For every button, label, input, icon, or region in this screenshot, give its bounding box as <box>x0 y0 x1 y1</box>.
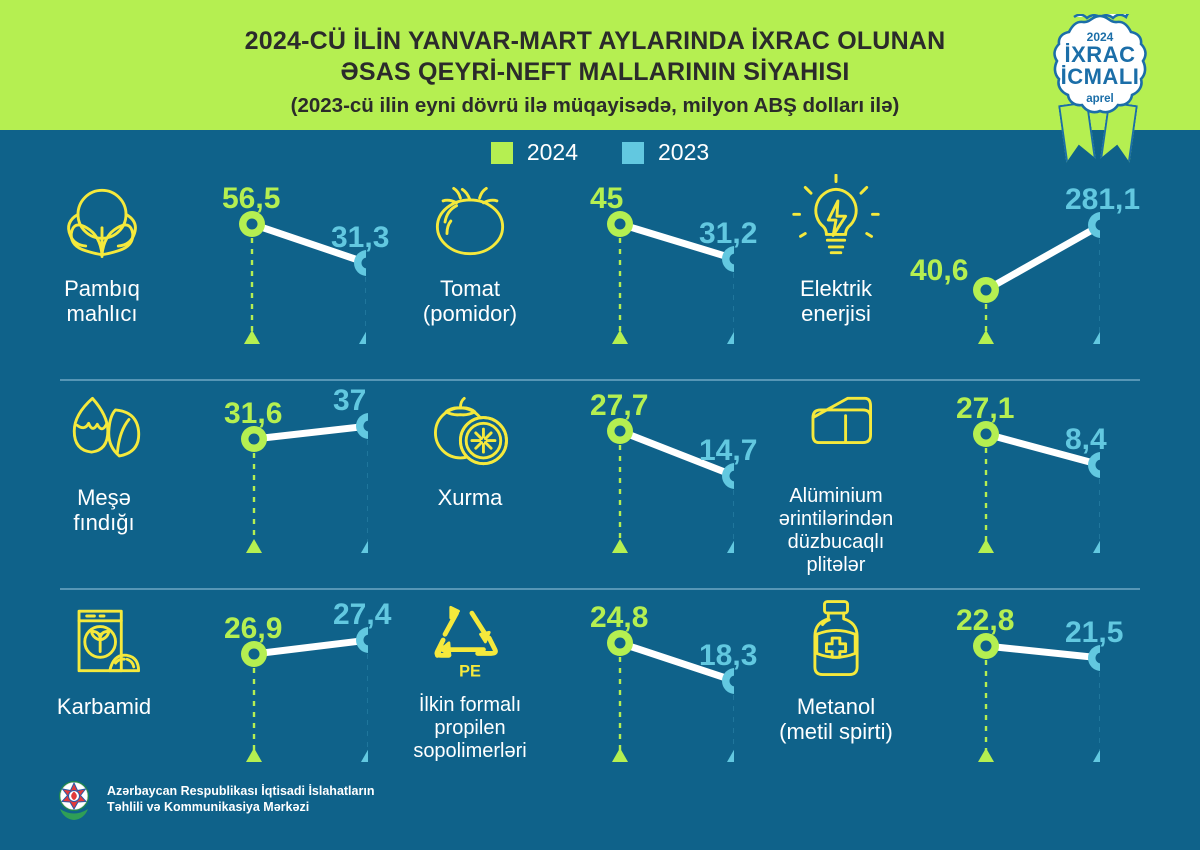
svg-text:PE: PE <box>459 662 481 680</box>
badge-text-block: 2024 İXRAC İCMALI aprel <box>1046 14 1154 122</box>
value-label-2024: 40,6 <box>910 254 968 288</box>
point-2024-inner <box>981 641 992 652</box>
marker-triangle-2023 <box>727 330 734 344</box>
marker-triangle-2023 <box>361 539 368 553</box>
footer: Azərbaycan Respublikası İqtisadi İslahat… <box>52 776 374 822</box>
marker-triangle-2024 <box>612 539 628 553</box>
hazelnut-icon <box>56 383 152 479</box>
value-label-2023: 281,1 <box>1065 183 1140 217</box>
product-cell-metanol: Metanol(metil spirti) 22,8 21,5 <box>734 588 1100 797</box>
marker-triangle-2023 <box>1093 748 1100 762</box>
legend-swatch-2024 <box>491 142 513 164</box>
medicine-bottle-icon <box>788 592 884 688</box>
legend-label-2023: 2023 <box>658 139 709 166</box>
marker-triangle-2023 <box>359 330 366 344</box>
footer-line2: Təhlili və Kommunikasiya Mərkəzi <box>107 799 374 815</box>
cotton-icon <box>54 174 150 270</box>
product-cell-propilen: PE İlkin formalıpropilensopolimerləri 24… <box>368 588 734 797</box>
items-row: Meşəfındığı 31,6 37 <box>0 379 1200 588</box>
items-row: Pambıqmahlıcı 56,5 31,3 <box>0 170 1200 379</box>
value-label-2024: 27,1 <box>956 392 1014 426</box>
value-label-2023: 21,5 <box>1065 616 1123 650</box>
value-label-2023: 8,4 <box>1065 423 1107 457</box>
marker-triangle-2023 <box>361 748 368 762</box>
connector-svg <box>518 170 734 370</box>
product-plot: 24,8 18,3 <box>518 588 734 788</box>
fertilizer-bag-icon <box>56 592 152 688</box>
marker-triangle-2023 <box>727 539 734 553</box>
point-2024-inner <box>615 219 626 230</box>
header-banner: 2024-CÜ İLİN YANVAR-MART AYLARINDA İXRAC… <box>0 0 1200 130</box>
marker-triangle-2024 <box>978 330 994 344</box>
badge-line1: İXRAC <box>1065 44 1136 66</box>
product-cell-aluminium-plitelr: Alüminiumərintilərindəndüzbucaqlıplitələ… <box>734 379 1100 588</box>
legend-swatch-2023 <box>622 142 644 164</box>
product-plot: 31,6 37 <box>152 379 368 579</box>
product-cell-mese-findigi: Meşəfındığı 31,6 37 <box>2 379 368 588</box>
value-label-2024: 31,6 <box>224 397 282 431</box>
point-2024-inner <box>981 285 992 296</box>
product-plot: 40,6 281,1 <box>884 170 1100 370</box>
legend: 2024 2023 <box>0 139 1200 166</box>
aluminium-slab-icon <box>788 383 884 479</box>
page-title-line2: ƏSAS QEYRİ-NEFT MALLARININ SİYAHISI <box>130 57 1060 88</box>
value-label-2024: 22,8 <box>956 604 1014 638</box>
legend-label-2024: 2024 <box>527 139 578 166</box>
marker-triangle-2023 <box>1093 539 1100 553</box>
product-cell-tomat: Tomat(pomidor) 45 31,2 <box>368 170 734 379</box>
lightbulb-icon <box>788 174 884 270</box>
items-grid: Pambıqmahlıcı 56,5 31,3 <box>0 170 1200 797</box>
product-cell-elektrik-enerjisi: Elektrikenerjisi 40,6 281,1 <box>734 170 1100 379</box>
marker-triangle-2024 <box>978 748 994 762</box>
point-2024-inner <box>247 219 258 230</box>
product-cell-pambiq-mahlici: Pambıqmahlıcı 56,5 31,3 <box>0 170 366 379</box>
value-label-2024: 45 <box>590 182 623 216</box>
product-plot: 45 31,2 <box>518 170 734 370</box>
point-2024-inner <box>615 426 626 437</box>
value-label-2024: 56,5 <box>222 182 280 216</box>
marker-triangle-2024 <box>612 748 628 762</box>
product-plot: 26,9 27,4 <box>152 588 368 788</box>
footer-text-block: Azərbaycan Respublikası İqtisadi İslahat… <box>107 783 374 815</box>
azerbaijan-emblem-icon <box>52 776 96 822</box>
product-plot: 56,5 31,3 <box>150 170 366 370</box>
product-cell-karbamid: Karbamid 26,9 27,4 <box>2 588 368 797</box>
ixrac-icmali-badge: 2024 İXRAC İCMALI aprel <box>1032 14 1168 159</box>
marker-triangle-2024 <box>246 539 262 553</box>
point-2024-inner <box>249 434 260 445</box>
legend-item-2024: 2024 <box>491 139 578 166</box>
point-2024-inner <box>249 649 260 660</box>
tomato-icon <box>422 174 518 270</box>
items-row: Karbamid 26,9 27,4 <box>0 588 1200 797</box>
badge-month: aprel <box>1086 91 1114 107</box>
marker-triangle-2024 <box>612 330 628 344</box>
persimmon-icon <box>422 383 518 479</box>
point-2024-inner <box>981 429 992 440</box>
marker-triangle-2024 <box>244 330 260 344</box>
point-2024-inner <box>615 638 626 649</box>
value-label-2023: 37 <box>333 384 366 418</box>
value-label-2024: 24,8 <box>590 601 648 635</box>
page-title-line1: 2024-CÜ İLİN YANVAR-MART AYLARINDA İXRAC… <box>130 26 1060 57</box>
marker-triangle-2024 <box>978 539 994 553</box>
pe-recycle-icon: PE <box>422 592 518 688</box>
value-label-2024: 27,7 <box>590 389 648 423</box>
product-plot: 27,7 14,7 <box>518 379 734 579</box>
marker-triangle-2024 <box>246 748 262 762</box>
value-label-2024: 26,9 <box>224 612 282 646</box>
footer-line1: Azərbaycan Respublikası İqtisadi İslahat… <box>107 783 374 799</box>
marker-triangle-2023 <box>1093 330 1100 344</box>
infographic-page: 2024-CÜ İLİN YANVAR-MART AYLARINDA İXRAC… <box>0 0 1200 850</box>
title-block: 2024-CÜ İLİN YANVAR-MART AYLARINDA İXRAC… <box>0 26 1060 121</box>
product-plot: 27,1 8,4 <box>884 379 1100 579</box>
page-subtitle: (2023-cü ilin eyni dövrü ilə müqayisədə,… <box>130 91 1060 121</box>
connector-line <box>986 225 1100 290</box>
marker-triangle-2023 <box>727 748 734 762</box>
badge-line2: İCMALI <box>1061 66 1140 88</box>
product-plot: 22,8 21,5 <box>884 588 1100 788</box>
product-cell-xurma: Xurma 27,7 14,7 <box>368 379 734 588</box>
legend-item-2023: 2023 <box>622 139 709 166</box>
